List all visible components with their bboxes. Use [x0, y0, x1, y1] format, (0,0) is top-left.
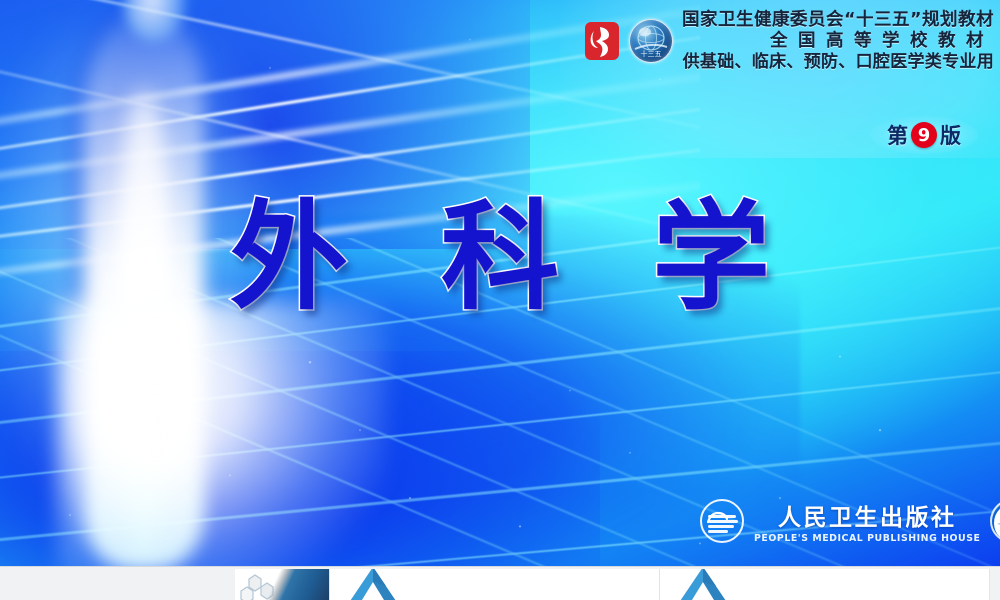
publisher-block: 人民卫生出版社 PEOPLE'S MEDICAL PUBLISHING HOUS…: [700, 498, 1000, 544]
header-line-1: 国家卫生健康委员会“十三五”规划教材: [682, 10, 994, 31]
molecule-icon: [239, 571, 285, 600]
textbook-header: 十三五 国家卫生健康委员会“十三五”规划教材 全国高等学校教材 供基础、临床、预…: [583, 10, 994, 73]
publisher-name-en: PEOPLE'S MEDICAL PUBLISHING HOUSE: [754, 533, 980, 544]
edition-number: 9: [911, 122, 937, 148]
header-line-2: 全国高等学校教材: [682, 31, 994, 52]
thumb-1[interactable]: [235, 569, 330, 600]
slide-canvas[interactable]: 十三五 国家卫生健康委员会“十三五”规划教材 全国高等学校教材 供基础、临床、预…: [0, 0, 1000, 566]
nhc-red-emblem: [583, 18, 621, 64]
thumbnail-strip[interactable]: [0, 566, 1000, 600]
presentation-viewer: 十三五 国家卫生健康委员会“十三五”规划教材 全国高等学校教材 供基础、临床、预…: [0, 0, 1000, 600]
thumb-3[interactable]: [660, 569, 990, 600]
thumb-2[interactable]: [330, 569, 660, 600]
pmph-wave-logo-icon: [700, 499, 744, 543]
digital-resource-tap-icon: 数字资源: [990, 499, 1000, 543]
triangle-logo-icon: [670, 569, 736, 600]
triangle-logo-icon: [340, 569, 406, 600]
header-line-3: 供基础、临床、预防、口腔医学类专业用: [682, 52, 994, 73]
header-emblems: 十三五: [583, 10, 673, 64]
edition-prefix: 第: [887, 120, 908, 150]
publisher-name-cn: 人民卫生出版社: [754, 498, 980, 532]
slide-title: 外 科 学: [0, 196, 1000, 320]
edition-suffix: 版: [940, 120, 961, 150]
thirteenth-five-year-globe-emblem: 十三五: [629, 19, 673, 63]
publisher-name: 人民卫生出版社 PEOPLE'S MEDICAL PUBLISHING HOUS…: [754, 498, 980, 544]
edition-badge: 第 9 版: [870, 116, 978, 154]
thumbnail-list: [235, 569, 990, 600]
svg-text:十三五: 十三五: [640, 49, 661, 58]
header-text-lines: 国家卫生健康委员会“十三五”规划教材 全国高等学校教材 供基础、临床、预防、口腔…: [682, 10, 994, 73]
